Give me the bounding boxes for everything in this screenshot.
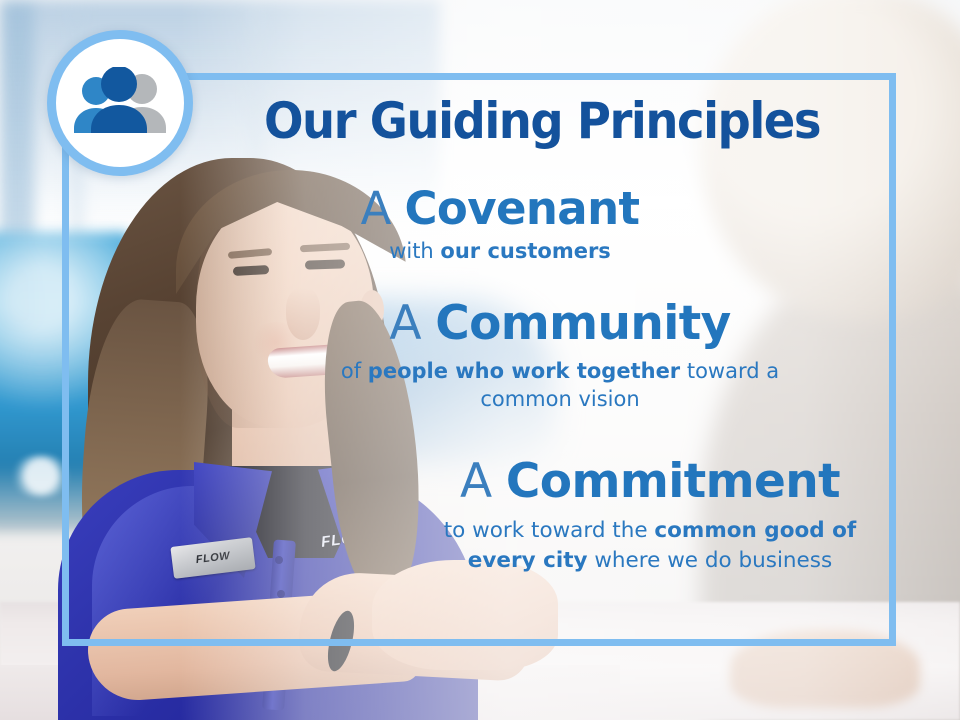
people-group-icon <box>68 67 172 139</box>
principle-subtext: with our customers <box>300 238 700 266</box>
principle-heading: A Covenant <box>300 186 700 232</box>
customer-hand-blur <box>730 630 920 708</box>
principle-noun: Community <box>435 296 730 351</box>
principle-subtext: of people who work together toward a com… <box>330 358 790 413</box>
principle-article: A <box>361 182 391 235</box>
clasped-hands <box>372 560 558 670</box>
people-group-badge <box>47 30 193 176</box>
principle-heading: A Commitment <box>420 458 880 506</box>
principle-article: A <box>460 454 492 509</box>
principle-commitment: A Commitment to work toward the common g… <box>420 458 880 575</box>
principle-noun: Covenant <box>404 182 639 235</box>
nose <box>286 288 320 340</box>
eye-left <box>233 265 269 276</box>
principle-heading: A Community <box>330 300 790 348</box>
principle-noun: Commitment <box>506 454 840 509</box>
principle-covenant: A Covenant with our customers <box>300 186 700 266</box>
shirt-button <box>275 556 283 564</box>
page-title: Our Guiding Principles <box>235 96 849 146</box>
name-badge-text: FLOW <box>195 550 231 566</box>
principle-community: A Community of people who work together … <box>330 300 790 413</box>
banner-canvas: FLOW FLOW <box>0 0 960 720</box>
principle-subtext: to work toward the common good of every … <box>420 516 880 575</box>
principle-article: A <box>389 296 421 351</box>
